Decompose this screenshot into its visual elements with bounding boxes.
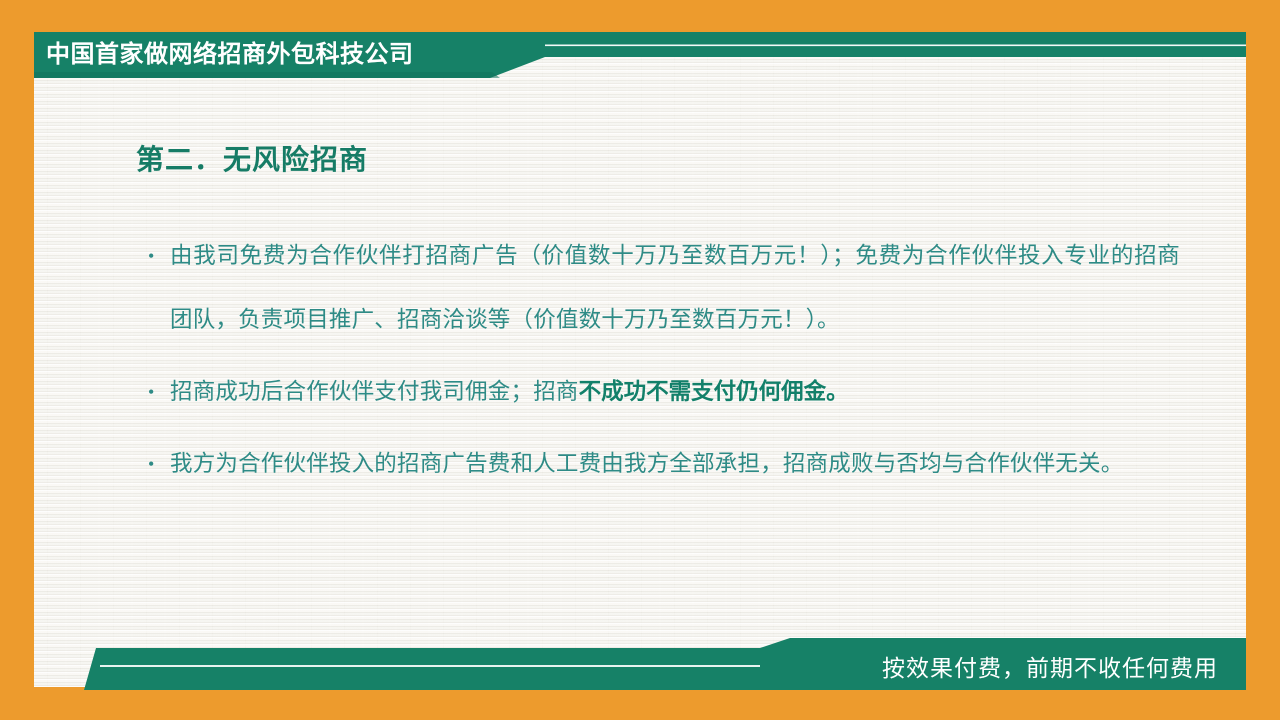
bullet-marker-icon: • (148, 432, 158, 496)
footer-tagline: 按效果付费，前期不收任何费用 (882, 651, 1218, 685)
slide-canvas: 中国首家做网络招商外包科技公司 第二．无风险招商 •由我司免费为合作伙伴打招商广… (0, 0, 1280, 720)
bullet-list: •由我司免费为合作伙伴打招商广告（价值数十万乃至数百万元！）；免费为合作伙伴投入… (140, 224, 1180, 504)
footer-hairline (100, 665, 760, 667)
footer-banner: 按效果付费，前期不收任何费用 (0, 610, 1280, 720)
bullet-marker-icon: • (148, 360, 158, 424)
bullet-text: 由我司免费为合作伙伴打招商广告（价值数十万乃至数百万元！）；免费为合作伙伴投入专… (170, 243, 1180, 332)
slide-heading: 第二．无风险招商 (136, 138, 368, 178)
bullet-item-3: •我方为合作伙伴投入的招商广告费和人工费由我方全部承担，招商成败与否均与合作伙伴… (140, 432, 1180, 496)
bullet-text: 招商成功后合作伙伴支付我司佣金；招商 (170, 379, 579, 404)
bullet-item-2: •招商成功后合作伙伴支付我司佣金；招商不成功不需支付仍何佣金。 (140, 360, 1180, 424)
bullet-text: 我方为合作伙伴投入的招商广告费和人工费由我方全部承担，招商成败与否均与合作伙伴无… (170, 451, 1123, 476)
bullet-text-emphasis: 不成功不需支付仍何佣金。 (579, 379, 849, 404)
bullet-item-1: •由我司免费为合作伙伴打招商广告（价值数十万乃至数百万元！）；免费为合作伙伴投入… (140, 224, 1180, 352)
bullet-marker-icon: • (148, 224, 158, 288)
